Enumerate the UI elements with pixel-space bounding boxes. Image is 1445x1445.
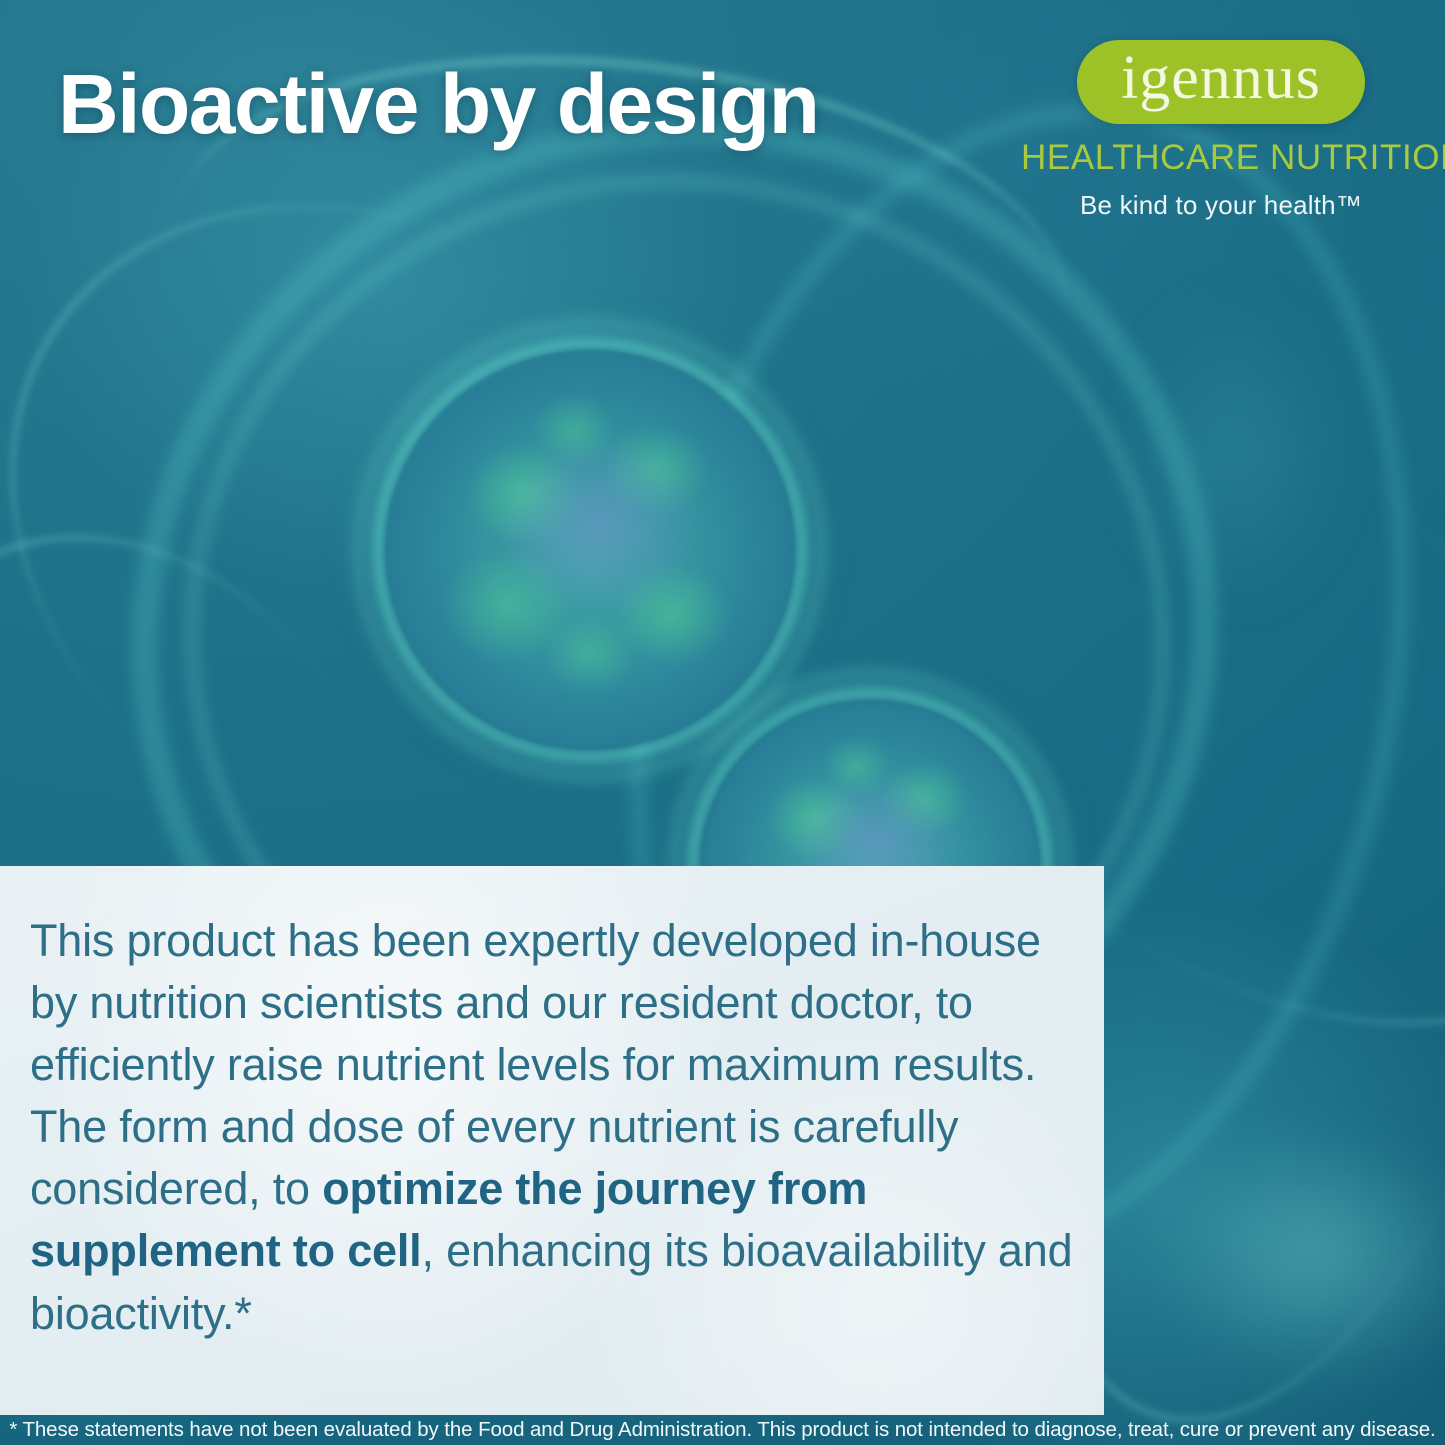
cell-cytoplasm — [385, 350, 795, 750]
body-copy: This product has been expertly developed… — [30, 910, 1075, 1345]
brand-lockup: igennus HEALTHCARE NUTRITION Be kind to … — [1021, 40, 1421, 221]
body-copy-panel: This product has been expertly developed… — [0, 866, 1104, 1415]
brand-name: igennus — [1121, 46, 1321, 112]
promo-poster: Bioactive by design igennus HEALTHCARE N… — [0, 0, 1445, 1445]
disclaimer-text: * These statements have not been evaluat… — [0, 1415, 1445, 1445]
brand-logo-pill[interactable]: igennus — [1077, 40, 1365, 124]
brand-subtitle: HEALTHCARE NUTRITION — [1021, 138, 1421, 178]
cell-large — [385, 350, 795, 750]
page-title: Bioactive by design — [58, 62, 818, 146]
brand-tagline: Be kind to your health™ — [1021, 190, 1421, 221]
